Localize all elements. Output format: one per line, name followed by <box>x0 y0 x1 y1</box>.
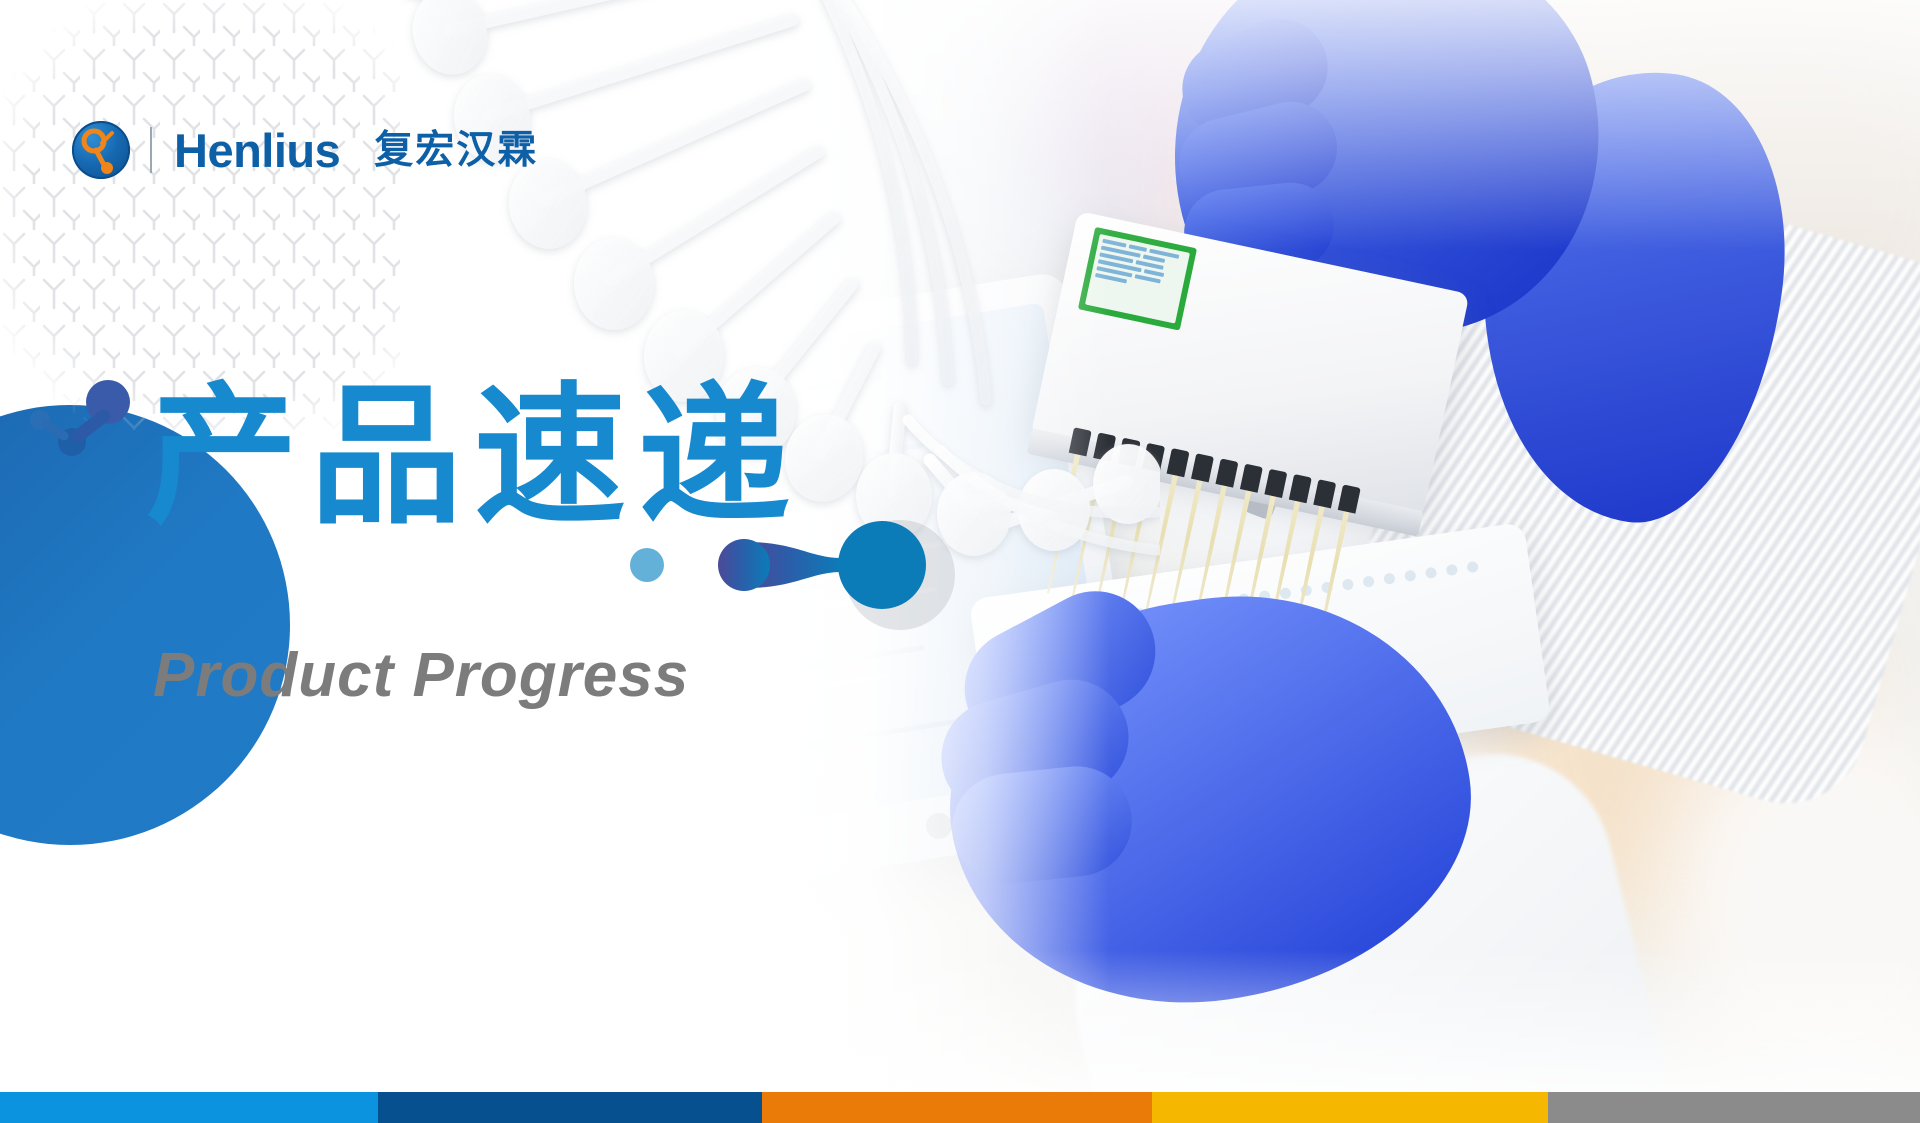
brand-logo[interactable]: Henlius 复宏汉霖 <box>72 118 538 182</box>
bar-segment-orange <box>762 1092 1152 1123</box>
logo-divider <box>150 127 152 173</box>
accent-dot <box>630 548 664 582</box>
page-subtitle: Product Progress <box>153 640 689 711</box>
title-slide: Henlius 复宏汉霖 产品速递 Product Progress <box>0 0 1920 1123</box>
henlius-logomark-icon <box>72 121 130 179</box>
small-molecule-icon <box>20 380 140 470</box>
molecule-connector-graphic <box>700 520 970 610</box>
bar-segment-dark-blue <box>378 1092 762 1123</box>
brand-name-en: Henlius <box>174 127 340 174</box>
bar-segment-light-blue <box>0 1092 378 1123</box>
brand-name-cn: 复宏汉霖 <box>374 131 538 170</box>
bar-segment-gold <box>1152 1092 1548 1123</box>
bar-segment-gray <box>1548 1092 1920 1123</box>
bottom-color-bar <box>0 1092 1920 1123</box>
page-title: 产品速递 <box>146 378 802 538</box>
antibody-pattern <box>0 0 400 430</box>
